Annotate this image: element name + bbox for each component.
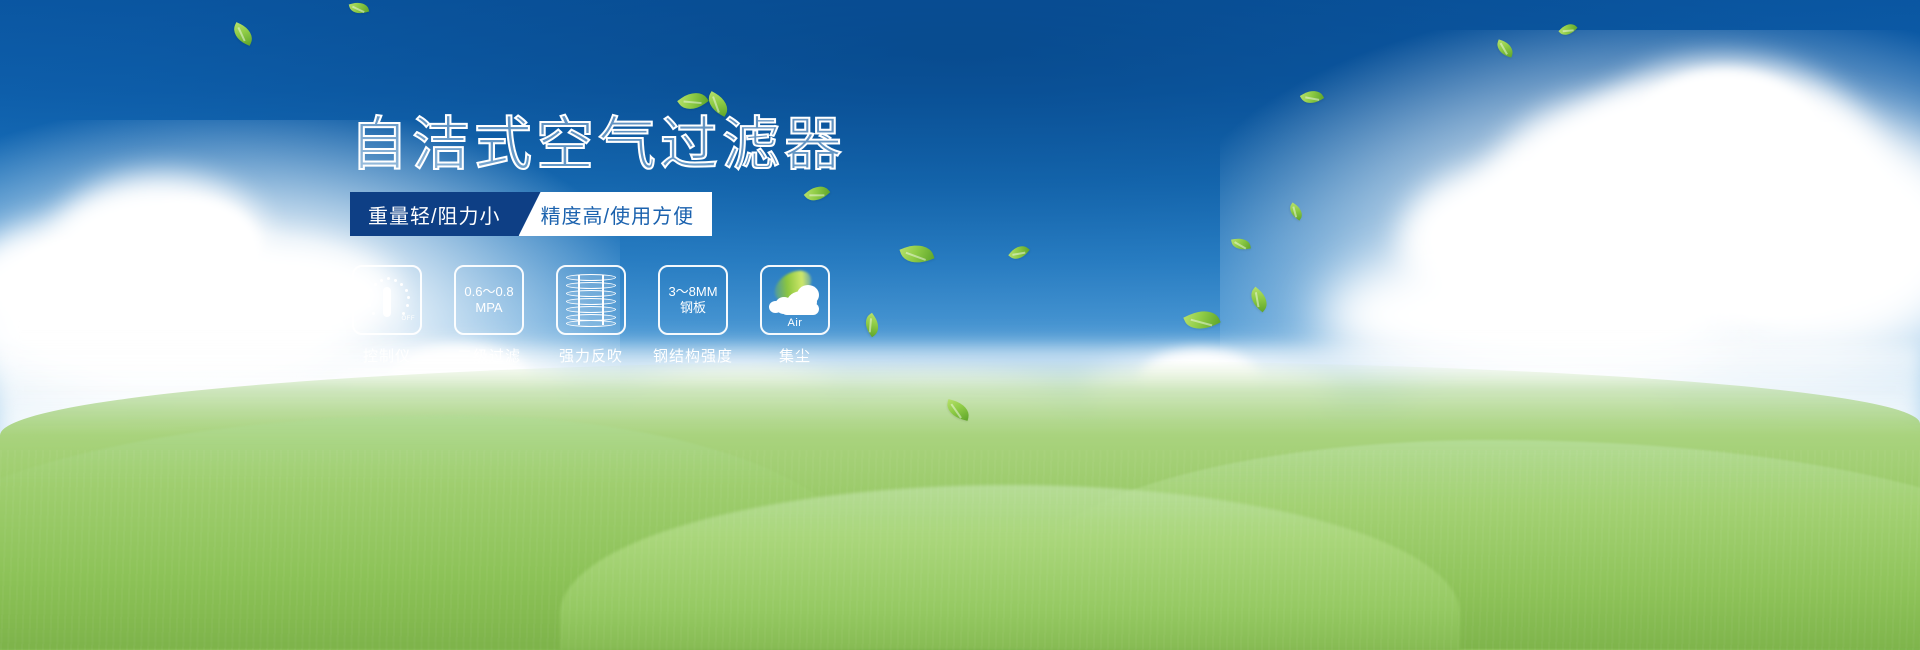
- air-cloud-icon: Air: [767, 273, 823, 327]
- feature-item-pressure: 0.6～0.8 MPA 二级过滤: [452, 265, 526, 366]
- gauge-max-label: OFF: [402, 316, 416, 322]
- feature-icon-box: Air: [760, 265, 830, 335]
- feature-item-control: NO OFF 控制仪: [350, 265, 424, 366]
- page-title: 自洁式空气过滤器: [350, 115, 846, 176]
- badge-secondary: 精度高/使用方便: [519, 192, 713, 236]
- feature-item-steel: 3～8MM 钢板 钢结构强度: [656, 265, 730, 366]
- feature-caption: 二级过滤: [457, 345, 521, 366]
- badge-secondary-label: 精度高/使用方便: [541, 200, 695, 229]
- banner-content: 自洁式空气过滤器 重量轻/阻力小 精度高/使用方便: [0, 0, 1920, 650]
- feature-caption: 强力反吹: [559, 345, 623, 366]
- feature-caption: 集尘: [779, 345, 811, 366]
- feature-icon-box: 3～8MM 钢板: [658, 265, 728, 335]
- steel-plate-text-icon: 3～8MM 钢板: [668, 284, 717, 317]
- badge-primary: 重量轻/阻力小: [350, 192, 541, 236]
- feature-caption: 控制仪: [363, 345, 411, 366]
- feature-icon-box: [556, 265, 626, 335]
- pressure-text-icon: 0.6～0.8 MPA: [464, 284, 513, 317]
- feature-icon-box: 0.6～0.8 MPA: [454, 265, 524, 335]
- air-label: Air: [767, 317, 823, 329]
- feature-list: NO OFF 控制仪 0.6～0.8 MPA 二级过滤: [350, 265, 832, 366]
- feature-item-dust: Air 集尘: [758, 265, 832, 366]
- product-banner: 自洁式空气过滤器 重量轻/阻力小 精度高/使用方便: [0, 0, 1920, 650]
- badge-primary-label: 重量轻/阻力小: [368, 200, 501, 229]
- feature-icon-box: NO OFF: [352, 265, 422, 335]
- gauge-needle: [383, 287, 391, 317]
- gauge-dial-icon: NO OFF: [359, 274, 415, 326]
- feature-caption: 钢结构强度: [653, 345, 733, 366]
- gauge-min-label: NO: [359, 299, 369, 305]
- badge-group: 重量轻/阻力小 精度高/使用方便: [350, 192, 712, 236]
- feature-item-blowback: 强力反吹: [554, 265, 628, 366]
- pleated-filter-icon: [566, 273, 616, 327]
